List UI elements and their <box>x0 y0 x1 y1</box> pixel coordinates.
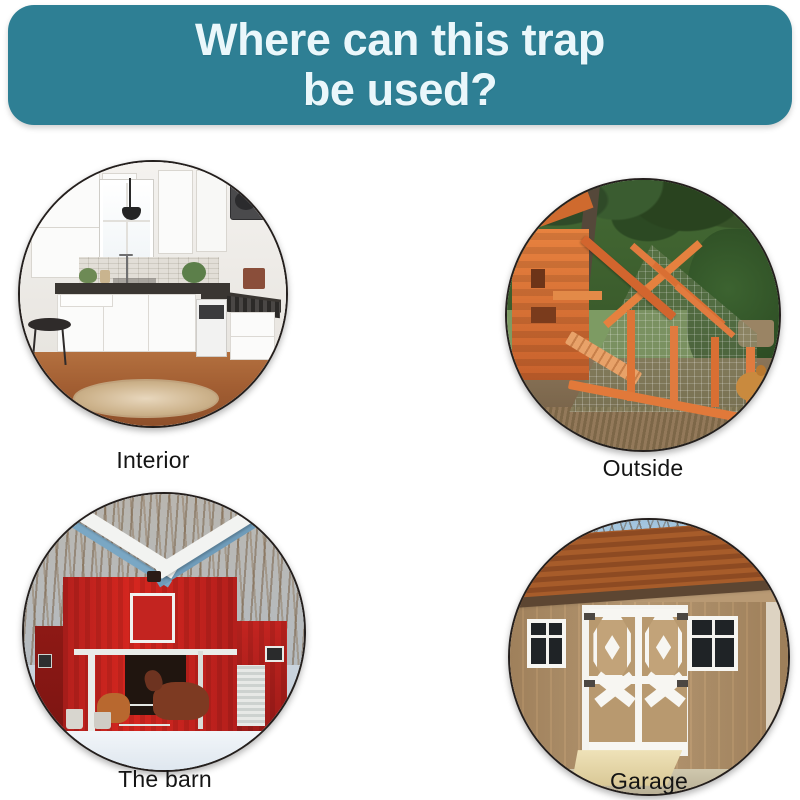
red-barn-photo <box>22 492 306 772</box>
garage-shed-photo <box>508 518 790 796</box>
chicken-coop-photo-image <box>507 180 779 450</box>
garage-shed-photo-image <box>510 520 788 794</box>
caption-outside: Outside <box>505 455 781 482</box>
page-title: Where can this trap be used? <box>195 15 605 116</box>
caption-barn: The barn <box>20 766 310 793</box>
kitchen-photo-image <box>20 162 286 426</box>
infographic-page: Where can this trap be used? <box>0 0 800 800</box>
caption-interior: Interior <box>0 447 306 474</box>
red-barn-photo-image <box>24 494 304 770</box>
header-banner: Where can this trap be used? <box>8 5 792 125</box>
caption-garage: Garage <box>508 768 790 795</box>
kitchen-photo <box>18 160 288 428</box>
chicken-coop-photo <box>505 178 781 452</box>
